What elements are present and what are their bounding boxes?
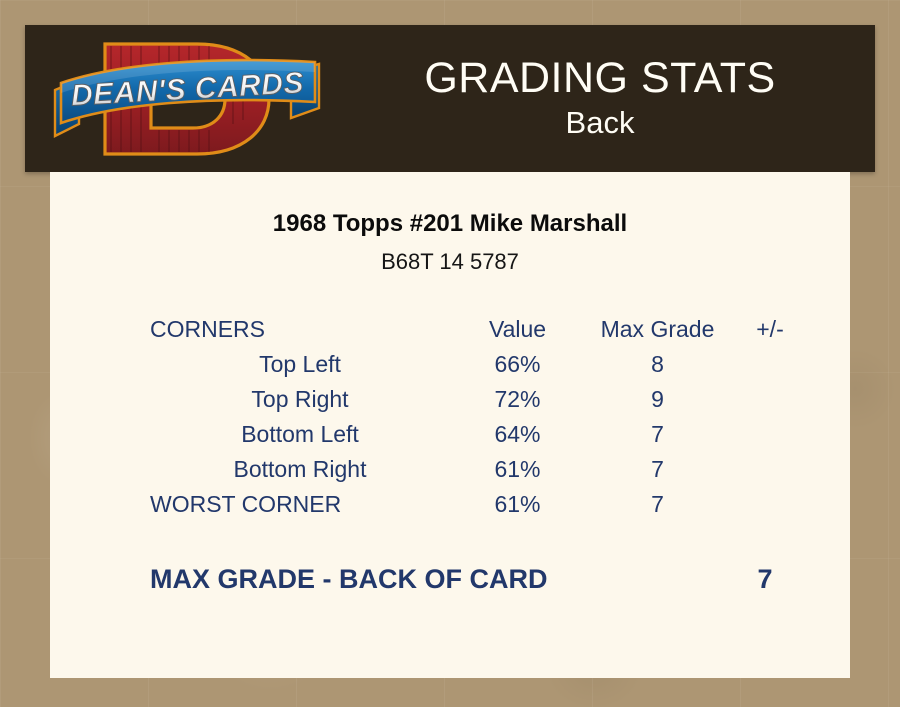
column-header-corners: CORNERS — [150, 312, 450, 347]
deans-cards-logo[interactable]: DEAN'S CARDS — [47, 28, 327, 170]
table-header-row: CORNERS Value Max Grade +/- — [150, 312, 810, 347]
cell-corner-max-grade: 8 — [585, 347, 730, 382]
cell-worst-corner-label: WORST CORNER — [150, 487, 450, 522]
table-header: CORNERS Value Max Grade +/- — [150, 312, 810, 347]
max-grade-value: 7 — [720, 564, 810, 595]
cell-corner-value: 72% — [450, 382, 585, 417]
cell-worst-corner-plus-minus — [730, 487, 810, 522]
cell-corner-label: Bottom Left — [150, 417, 450, 452]
cell-corner-max-grade: 9 — [585, 382, 730, 417]
cell-corner-value: 61% — [450, 452, 585, 487]
card-identifier: B68T 14 5787 — [50, 249, 850, 275]
page-title: GRADING STATS — [424, 56, 775, 101]
cell-corner-label: Top Right — [150, 382, 450, 417]
header-title-group: GRADING STATS Back — [325, 25, 875, 172]
column-header-max-grade: Max Grade — [585, 312, 730, 347]
max-grade-summary: MAX GRADE - BACK OF CARD 7 — [150, 564, 810, 595]
cell-corner-label: Bottom Right — [150, 452, 450, 487]
cell-corner-plus-minus — [730, 382, 810, 417]
card-title: 1968 Topps #201 Mike Marshall — [50, 210, 850, 238]
cell-corner-max-grade: 7 — [585, 417, 730, 452]
content-panel: 1968 Topps #201 Mike Marshall B68T 14 57… — [50, 172, 850, 678]
cell-worst-corner-max-grade: 7 — [585, 487, 730, 522]
max-grade-label: MAX GRADE - BACK OF CARD — [150, 564, 720, 595]
table-body: Top Left 66% 8 Top Right 72% 9 Bottom Le… — [150, 347, 810, 522]
logo-artwork: DEAN'S CARDS — [47, 28, 327, 170]
table-row: Bottom Right 61% 7 — [150, 452, 810, 487]
cell-corner-plus-minus — [730, 347, 810, 382]
table-row-worst-corner: WORST CORNER 61% 7 — [150, 487, 810, 522]
cell-corner-plus-minus — [730, 452, 810, 487]
cell-worst-corner-value: 61% — [450, 487, 585, 522]
column-header-plus-minus: +/- — [730, 312, 810, 347]
table-row: Top Right 72% 9 — [150, 382, 810, 417]
cell-corner-max-grade: 7 — [585, 452, 730, 487]
cell-corner-value: 64% — [450, 417, 585, 452]
corners-stats-table: CORNERS Value Max Grade +/- Top Left 66%… — [150, 312, 810, 522]
table-row: Bottom Left 64% 7 — [150, 417, 810, 452]
header-band: DEAN'S CARDS GRADING STATS Back — [25, 25, 875, 172]
grading-stats-page: DEAN'S CARDS GRADING STATS Back 1968 Top… — [0, 0, 900, 707]
table-row: Top Left 66% 8 — [150, 347, 810, 382]
cell-corner-label: Top Left — [150, 347, 450, 382]
cell-corner-plus-minus — [730, 417, 810, 452]
cell-corner-value: 66% — [450, 347, 585, 382]
page-subtitle: Back — [566, 105, 635, 141]
column-header-value: Value — [450, 312, 585, 347]
